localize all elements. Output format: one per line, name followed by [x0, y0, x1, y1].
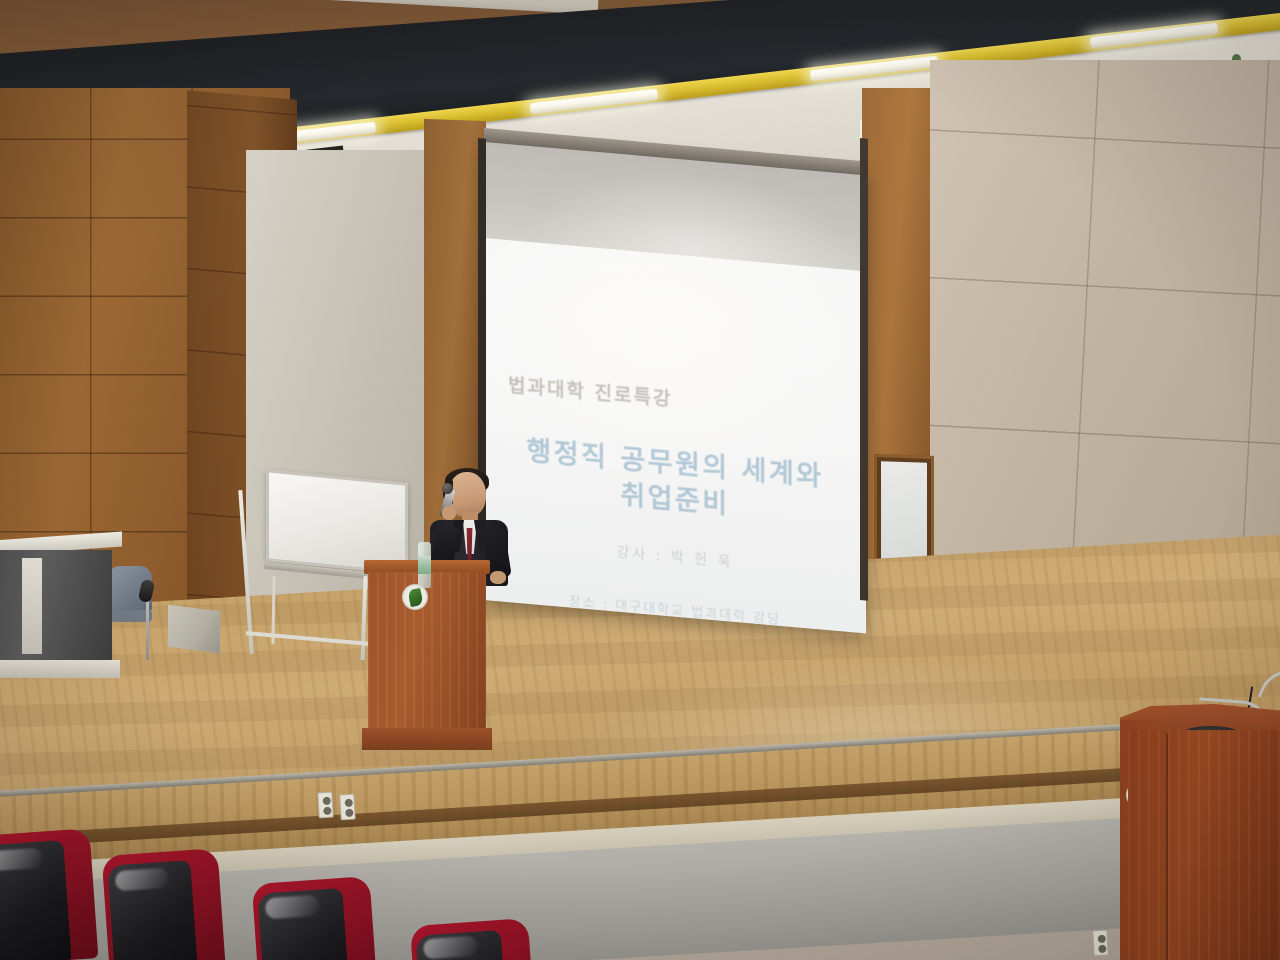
seat-gloss-highlight: [114, 867, 169, 891]
audience-seat: [410, 918, 536, 960]
stage-front-outlet-left-b: [339, 794, 356, 821]
easel-leg-left: [238, 490, 253, 654]
audience-seat: [0, 828, 98, 960]
projection-screen-right-edge: [860, 138, 868, 601]
audience-seat: [102, 848, 227, 960]
lectern-base: [0, 660, 120, 678]
water-bottle: [418, 542, 431, 588]
auditorium-photo-scene: 법과대학 진로특강 행정직 공무원의 세계와 취업준비 강사 : 박 헌 욱 장…: [0, 0, 1280, 960]
seat-gloss-highlight: [423, 936, 478, 959]
projection-screen: 법과대학 진로특강 행정직 공무원의 세계와 취업준비 강사 : 박 헌 욱 장…: [484, 140, 866, 633]
presenter-hand-right: [490, 571, 506, 584]
wooden-podium-main: [368, 560, 486, 755]
projected-slide: 법과대학 진로특강 행정직 공무원의 세계와 취업준비 강사 : 박 헌 욱 장…: [484, 238, 866, 633]
slide-kicker-text: 법과대학 진로특강: [484, 368, 866, 428]
slide-speaker-text: 강사 : 박 헌 욱: [484, 530, 866, 583]
whiteboard-surface: [266, 469, 408, 575]
water-bottle-label: [418, 556, 431, 574]
podium-base: [362, 728, 492, 750]
stage-front-outlet-right: [1092, 930, 1109, 957]
stage-front-outlet-left: [317, 792, 334, 819]
lectern-accent-stripe: [22, 558, 42, 654]
floor-wedge-monitor: [168, 605, 220, 653]
slide-title: 행정직 공무원의 세계와 취업준비: [484, 430, 866, 535]
podium-foreground-front-face: [1128, 730, 1280, 960]
seat-gloss-highlight: [265, 895, 321, 919]
audience-seat: [252, 876, 379, 960]
podium-foreground-seam: [1166, 734, 1168, 960]
presenter-hand-left: [442, 506, 456, 520]
grey-control-lectern: [0, 536, 120, 686]
lectern-body: [0, 550, 112, 662]
wooden-podium-foreground: [1120, 690, 1280, 960]
microphone-head-icon: [442, 483, 453, 494]
podium-front-panel: [368, 572, 486, 730]
easel-leg-right: [361, 576, 368, 660]
emblem-leaf-icon: [407, 587, 423, 606]
